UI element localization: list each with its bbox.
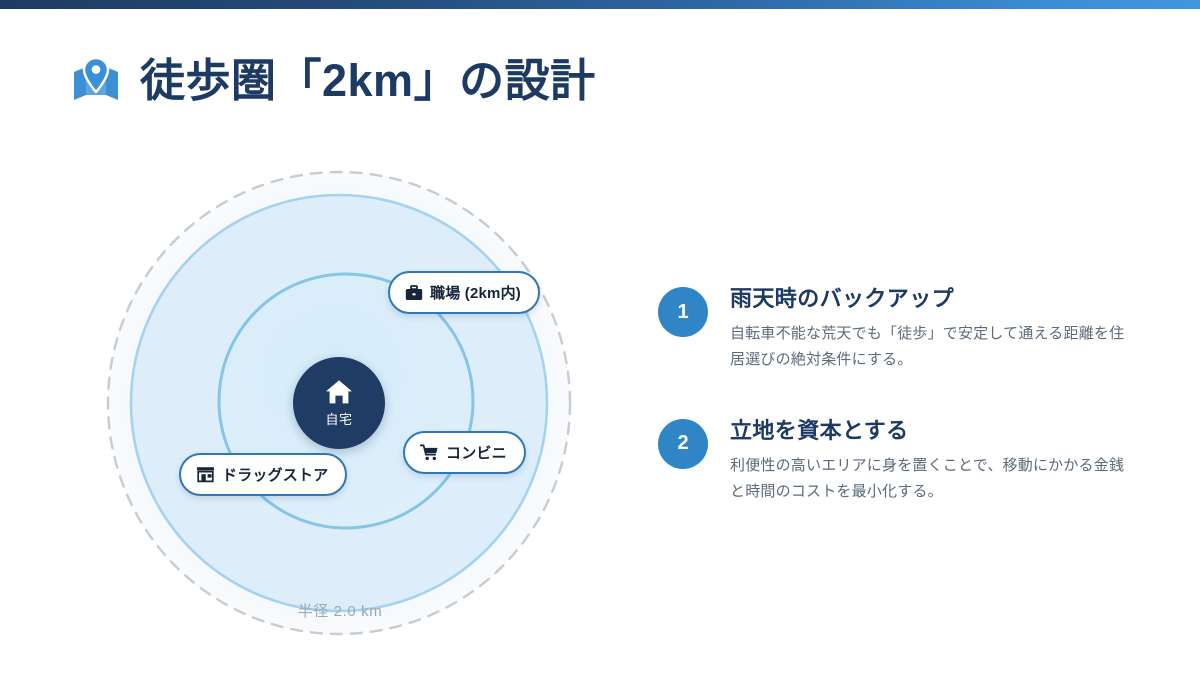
radius-caption: 半径 2.0 km (80, 600, 600, 621)
store-icon (196, 466, 215, 483)
point-title: 立地を資本とする (730, 418, 1130, 444)
walking-radius-diagram: 自宅 職場 (2km内) コンビニ ドラッグストア 半径 2.0 km (80, 150, 600, 660)
points-list: 1 雨天時のバックアップ 自転車不能な荒天でも「徒歩」で安定して通える距離を住居… (658, 285, 1158, 505)
page-title: 徒歩圏「2km」の設計 (70, 55, 596, 107)
pill-drugstore[interactable]: ドラッグストア (179, 453, 347, 496)
pill-drugstore-label: ドラッグストア (222, 464, 328, 485)
point-badge: 1 (658, 287, 708, 337)
point-description: 自転車不能な荒天でも「徒歩」で安定して通える距離を住居選びの絶対条件にする。 (730, 321, 1130, 373)
point-title: 雨天時のバックアップ (730, 286, 1130, 312)
home-node-label: 自宅 (325, 409, 352, 428)
pill-workplace[interactable]: 職場 (2km内) (388, 271, 540, 314)
top-accent-bar (0, 0, 1200, 9)
home-icon (325, 379, 353, 405)
point-badge: 2 (658, 419, 708, 469)
briefcase-icon (405, 285, 423, 301)
point-description: 利便性の高いエリアに身を置くことで、移動にかかる金銭と時間のコストを最小化する。 (730, 453, 1130, 505)
pill-conveni[interactable]: コンビニ (403, 431, 526, 474)
point-item: 2 立地を資本とする 利便性の高いエリアに身を置くことで、移動にかかる金銭と時間… (658, 417, 1158, 505)
map-pin-icon (70, 55, 122, 107)
shopping-cart-icon (420, 444, 439, 461)
point-item: 1 雨天時のバックアップ 自転車不能な荒天でも「徒歩」で安定して通える距離を住居… (658, 285, 1158, 373)
page-title-text: 徒歩圏「2km」の設計 (140, 57, 596, 104)
home-node: 自宅 (293, 357, 385, 449)
pill-conveni-label: コンビニ (446, 442, 507, 463)
pill-workplace-label: 職場 (2km内) (430, 282, 521, 303)
